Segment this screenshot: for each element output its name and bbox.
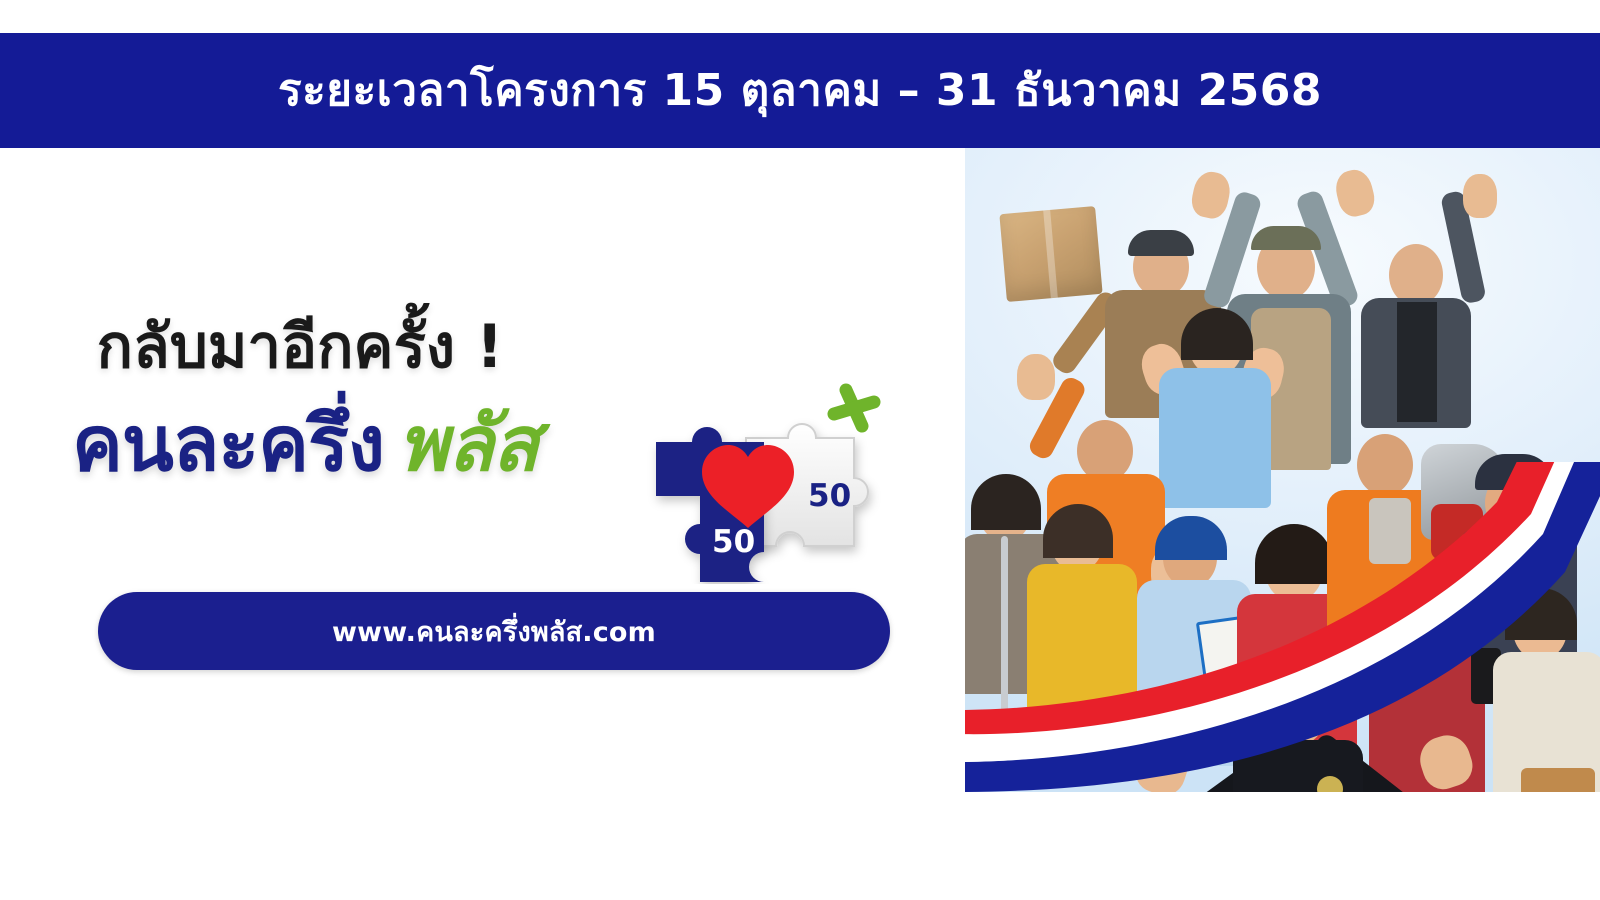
puzzle-pieces-logo: 50 50 xyxy=(628,374,890,584)
people-photo-panel xyxy=(965,148,1600,792)
left-content-column: กลับมาอีกครั้ง ! คนละครึ่งพลัส xyxy=(0,148,965,900)
brand-logo-row: คนละครึ่งพลัส xyxy=(0,386,965,576)
cardboard-parcel-box xyxy=(999,206,1102,302)
plus-icon xyxy=(834,390,874,426)
brand-name-primary: คนละครึ่ง xyxy=(72,399,384,488)
promo-poster: ระยะเวลาโครงการ 15 ตุลาคม – 31 ธันวาคม 2… xyxy=(0,0,1600,900)
puzzle-left-value: 50 xyxy=(712,524,755,560)
bottom-white-strip xyxy=(965,792,1600,900)
campaign-period-banner: ระยะเวลาโครงการ 15 ตุลาคม – 31 ธันวาคม 2… xyxy=(0,33,1600,148)
brand-lockup: คนละครึ่งพลัส xyxy=(72,406,538,482)
thai-flag-ribbon xyxy=(965,462,1600,792)
website-cta-label: www.คนละครึ่งพลัส.com xyxy=(332,610,656,653)
brand-name-suffix: พลัส xyxy=(398,399,538,488)
top-white-strip xyxy=(0,0,1600,33)
headline-text: กลับมาอีกครั้ง ! xyxy=(0,316,600,379)
campaign-period-text: ระยะเวลาโครงการ 15 ตุลาคม – 31 ธันวาคม 2… xyxy=(278,69,1322,113)
website-cta-button[interactable]: www.คนละครึ่งพลัส.com xyxy=(98,592,890,670)
puzzle-right-value: 50 xyxy=(808,478,851,514)
